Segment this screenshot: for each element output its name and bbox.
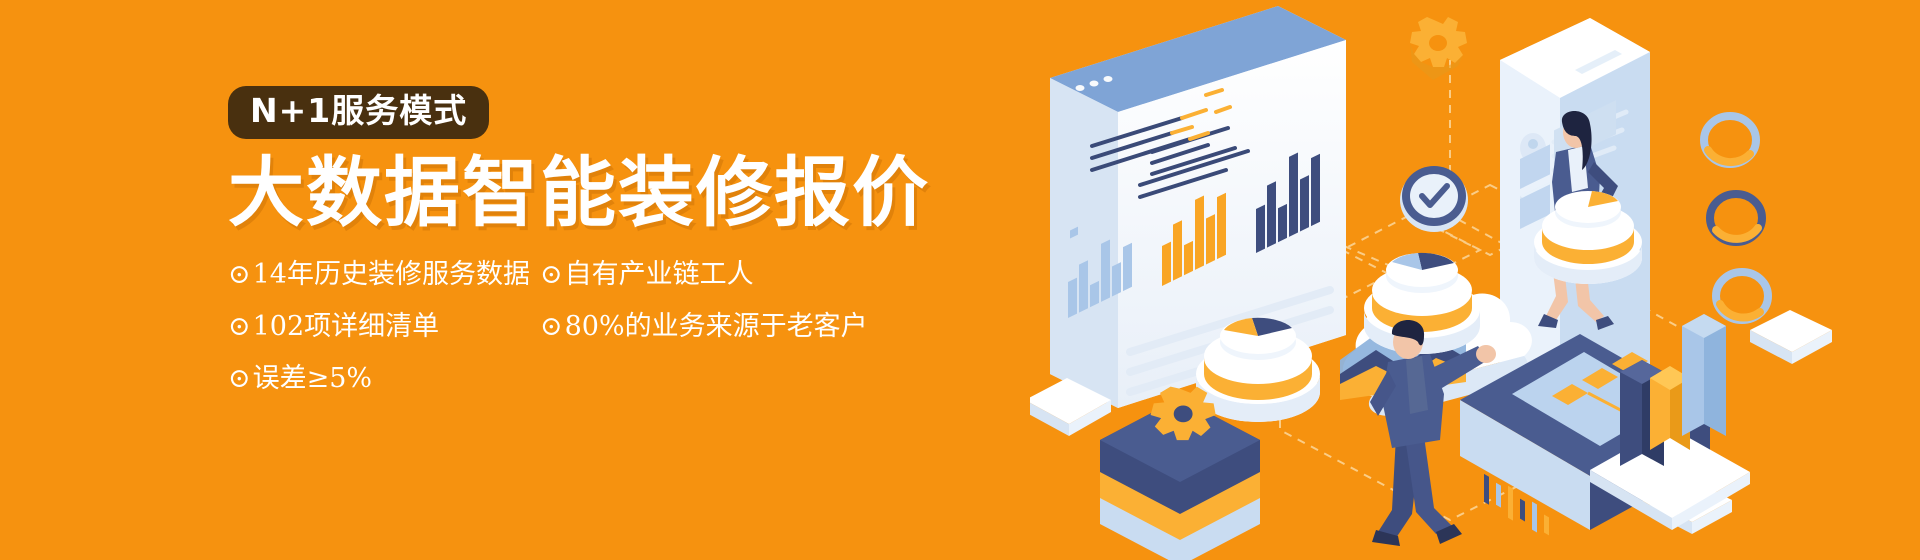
promo-banner: N+1服务模式 大数据智能装修报价 ⊙14年历史装修服务数据 ⊙102项详细清单… — [0, 0, 1920, 560]
list-item: ⊙80%的业务来源于老客户 — [540, 311, 868, 343]
list-item-label: 自有产业链工人 — [565, 259, 754, 290]
feature-list: ⊙14年历史装修服务数据 ⊙102项详细清单 ⊙误差≥5% ⊙自有产业链工人 ⊙… — [228, 259, 988, 394]
list-item-label: 14年历史装修服务数据 — [253, 259, 530, 290]
circle-dot-icon: ⊙ — [540, 259, 563, 290]
circle-dot-icon: ⊙ — [228, 363, 251, 394]
gear-orange — [1410, 17, 1467, 80]
list-item: ⊙14年历史装修服务数据 — [228, 259, 530, 291]
circle-dot-icon: ⊙ — [228, 311, 251, 342]
list-item: ⊙误差≥5% — [228, 363, 372, 395]
bar-light-blue — [1682, 314, 1726, 436]
list-item-label: 102项详细清单 — [253, 311, 440, 342]
service-model-badge: N+1服务模式 — [228, 86, 489, 139]
floating-plate — [1750, 310, 1832, 364]
list-item-label: 80%的业务来源于老客户 — [565, 311, 868, 342]
hero-illustration — [1030, 0, 1920, 560]
hero-copy: N+1服务模式 大数据智能装修报价 ⊙14年历史装修服务数据 ⊙102项详细清单… — [228, 86, 988, 394]
donut-ring — [1710, 194, 1762, 242]
list-item: ⊙102项详细清单 — [228, 311, 439, 343]
donut-ring — [1716, 272, 1768, 320]
donut-ring — [1704, 116, 1756, 164]
page-title: 大数据智能装修报价 — [228, 153, 988, 233]
list-item: ⊙自有产业链工人 — [540, 259, 754, 291]
circle-dot-icon: ⊙ — [228, 259, 251, 290]
checkmark-badge — [1400, 166, 1468, 232]
list-item-label: 误差≥5% — [253, 363, 372, 394]
circle-dot-icon: ⊙ — [540, 311, 563, 342]
